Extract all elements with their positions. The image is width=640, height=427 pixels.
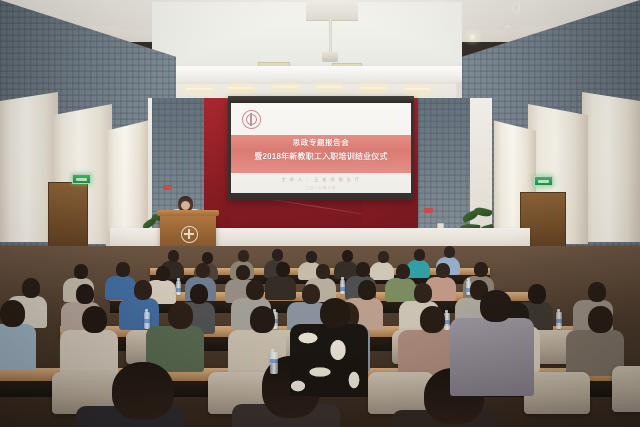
head	[396, 264, 410, 279]
head	[272, 249, 283, 261]
slide-title-line-2: 暨2018年新教职工入职培训结业仪式	[231, 151, 411, 162]
recessed-downlight	[467, 34, 478, 40]
head	[588, 282, 606, 302]
wall-curtain	[582, 92, 640, 242]
torso	[450, 318, 534, 396]
water-bottle	[144, 312, 150, 329]
screen-roller-housing	[228, 96, 414, 103]
torso	[370, 262, 394, 280]
head	[246, 280, 264, 300]
head	[420, 306, 445, 333]
head	[156, 266, 170, 281]
cove-strip-light	[360, 87, 386, 91]
head	[276, 262, 290, 277]
wall-alarm-plate[interactable]	[163, 185, 172, 190]
soffit-face	[148, 66, 468, 86]
head	[358, 280, 376, 300]
screen-surface: 思政专题报告会 暨2018年新教职工入职培训结业仪式 主 讲 人 ： 王 老 师…	[231, 103, 411, 193]
head	[134, 280, 152, 300]
water-bottle	[270, 352, 278, 374]
torso	[60, 330, 118, 376]
head	[74, 264, 88, 279]
ceiling-projector	[306, 0, 358, 21]
head	[112, 362, 174, 420]
head	[168, 302, 193, 329]
head	[82, 306, 107, 333]
slide-title-line-1: 思政专题报告会	[231, 137, 411, 148]
head	[116, 262, 130, 277]
projector-head	[322, 52, 338, 62]
wall-alarm-plate[interactable]	[424, 208, 433, 213]
torso	[265, 276, 296, 300]
head	[306, 251, 317, 263]
head	[356, 262, 370, 277]
head	[190, 284, 208, 304]
head	[0, 300, 25, 327]
head	[342, 250, 353, 262]
cove-strip-light	[272, 86, 298, 90]
head	[316, 264, 330, 279]
head	[414, 283, 432, 303]
water-bottle	[176, 281, 181, 295]
lecture-hall-photo: 思政专题报告会 暨2018年新教职工入职培训结业仪式 主 讲 人 ： 王 老 师…	[0, 0, 640, 427]
head	[436, 263, 450, 278]
presenter-face	[181, 201, 190, 210]
exit-sign-icon	[72, 174, 91, 184]
head	[250, 306, 275, 333]
head	[480, 290, 512, 322]
patterned-torso	[290, 324, 368, 396]
podium-top-surface	[157, 210, 219, 216]
auditorium-chair	[612, 366, 640, 412]
podium-crest-icon	[181, 226, 198, 243]
water-bottle	[340, 280, 345, 294]
slide-subtitle: 主 讲 人 ： 王 老 师 报 告 厅	[231, 177, 411, 183]
head	[168, 250, 179, 262]
head	[474, 262, 488, 277]
head	[588, 306, 613, 333]
head	[238, 250, 249, 262]
head	[320, 298, 350, 328]
torso	[0, 324, 36, 370]
head	[22, 278, 40, 298]
projector-mount-pole	[329, 19, 332, 55]
head	[414, 249, 425, 261]
head	[302, 284, 320, 304]
cove-strip-light	[228, 87, 254, 91]
head	[236, 265, 250, 280]
torso	[119, 298, 159, 330]
cove-strip-light	[404, 88, 430, 92]
projection-screen: 思政专题报告会 暨2018年新教职工入职培训结业仪式 主 讲 人 ： 王 老 师…	[228, 96, 414, 200]
head	[76, 284, 94, 304]
exit-sign-icon	[534, 176, 553, 186]
slide-footnote: 二〇一八年八月	[231, 185, 411, 190]
exit-door-left[interactable]	[48, 182, 88, 250]
head	[528, 284, 546, 304]
head	[378, 251, 389, 263]
water-bottle	[556, 312, 562, 329]
cove-strip-light	[186, 88, 212, 92]
torso	[385, 278, 416, 302]
recessed-downlight	[502, 24, 513, 29]
head	[444, 246, 455, 258]
torso	[105, 276, 136, 300]
university-emblem-icon	[242, 110, 261, 129]
cove-strip-light	[316, 86, 342, 90]
head	[196, 263, 210, 278]
